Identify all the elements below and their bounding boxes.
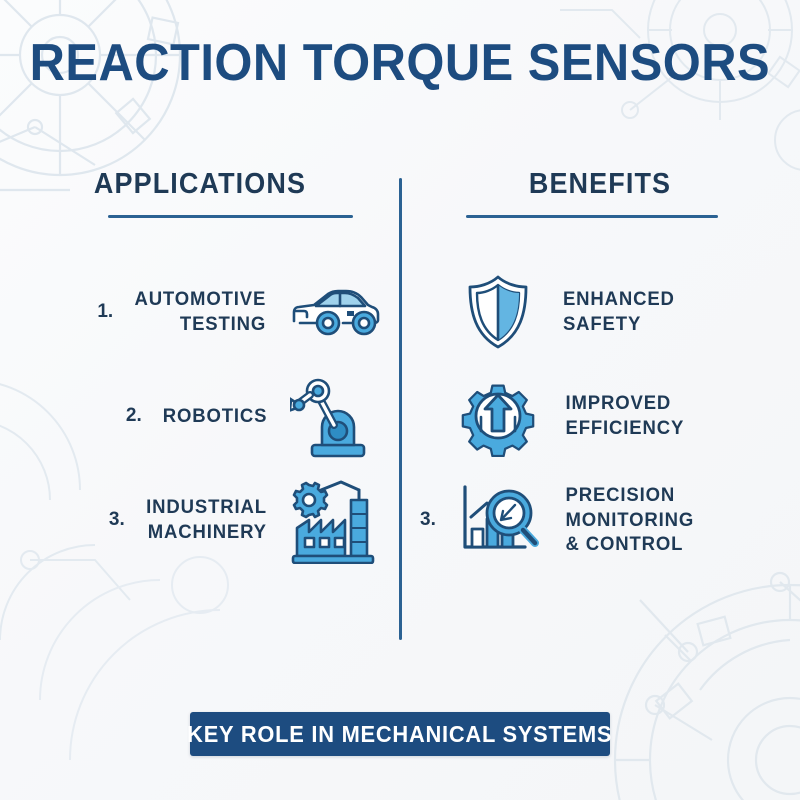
applications-column: APPLICATIONS 1. AUTOMOTIVE TESTING (20, 168, 380, 572)
item-label-line2: MACHINERY (146, 520, 267, 545)
benefits-heading-underline (466, 215, 718, 218)
applications-list: 1. AUTOMOTIVE TESTING (20, 260, 380, 572)
factory-icon (288, 474, 380, 566)
page-title: REACTION TORQUE SENSORS (30, 36, 770, 91)
item-label-line2: SAFETY (563, 312, 675, 337)
item-label-line1: IMPROVED EFFICIENCY (566, 391, 775, 441)
item-label-line1: ENHANCED (563, 287, 675, 312)
infographic-poster: REACTION TORQUE SENSORS APPLICATIONS 1. … (0, 0, 800, 800)
robot-arm-icon (288, 370, 380, 462)
applications-heading-underline (108, 215, 353, 218)
list-item[interactable]: 3. (420, 468, 780, 572)
item-number: 3. (420, 509, 450, 531)
chart-magnifier-icon (452, 474, 544, 566)
list-item[interactable]: 1. AUTOMOTIVE TESTING (20, 260, 380, 364)
item-label: AUTOMOTIVE TESTING (135, 287, 267, 337)
page-title-container: REACTION TORQUE SENSORS (0, 36, 800, 91)
item-label-line2: & CONTROL (566, 532, 775, 557)
list-item[interactable]: 3. INDUSTRIAL MACHINERY (20, 468, 380, 572)
item-label: IMPROVED EFFICIENCY (566, 391, 775, 441)
item-number: 1. (97, 301, 127, 323)
benefits-list: ENHANCED SAFETY (420, 260, 780, 572)
item-number: 2. (126, 405, 156, 427)
applications-heading: APPLICATIONS (33, 168, 368, 201)
item-label-line1: AUTOMOTIVE (135, 287, 267, 312)
list-item[interactable]: 2. ROBOTICS (20, 364, 380, 468)
footer-banner[interactable]: KEY ROLE IN MECHANICAL SYSTEMS (190, 712, 610, 756)
list-item[interactable]: ENHANCED SAFETY (420, 260, 780, 364)
item-label: ENHANCED SAFETY (563, 287, 675, 337)
gear-arrow-icon (452, 370, 544, 462)
item-label: PRECISION MONITORING & CONTROL (566, 483, 775, 558)
footer-banner-text: KEY ROLE IN MECHANICAL SYSTEMS (187, 721, 612, 748)
benefits-column: BENEFITS (420, 168, 780, 572)
item-label: INDUSTRIAL MACHINERY (146, 495, 267, 545)
item-label-line1: ROBOTICS (163, 404, 268, 429)
item-number: 3. (109, 509, 139, 531)
item-label-line1: INDUSTRIAL (146, 495, 267, 520)
columns-container: APPLICATIONS 1. AUTOMOTIVE TESTING (0, 168, 800, 648)
column-divider (399, 178, 402, 640)
car-icon (288, 266, 380, 358)
item-label: ROBOTICS (163, 404, 268, 429)
shield-icon (452, 266, 544, 358)
list-item[interactable]: IMPROVED EFFICIENCY (420, 364, 780, 468)
item-label-line2: TESTING (135, 312, 267, 337)
item-label-line1: PRECISION MONITORING (566, 483, 775, 533)
benefits-heading: BENEFITS (433, 168, 768, 201)
